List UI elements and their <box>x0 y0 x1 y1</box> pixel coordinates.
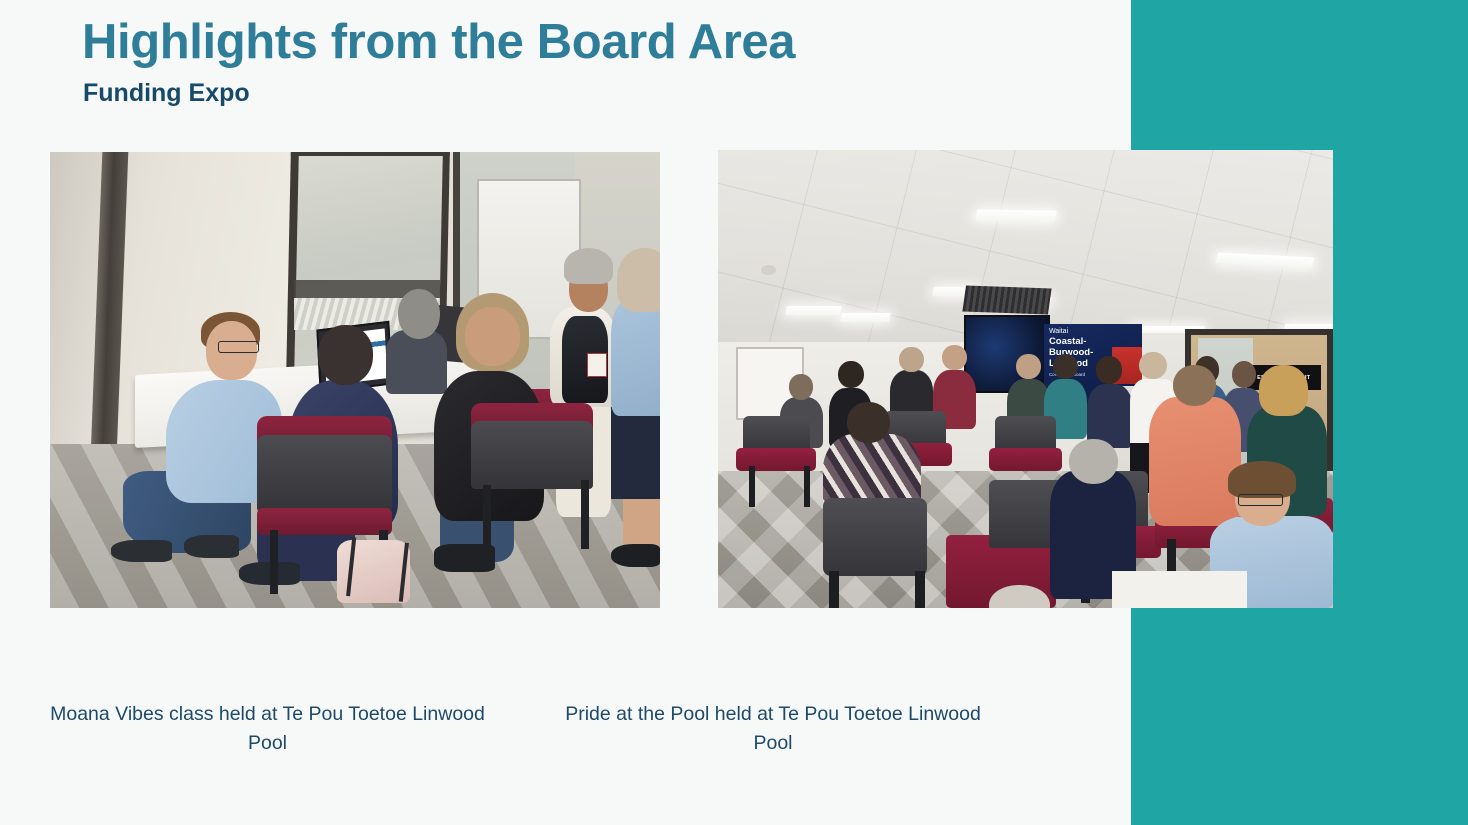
caption-photo-left: Moana Vibes class held at Te Pou Toetoe … <box>50 700 485 758</box>
photo2-desk <box>1112 571 1247 608</box>
photo1-person-head <box>617 248 660 312</box>
glasses-icon <box>1238 494 1283 507</box>
photo2-person-head <box>1016 354 1041 379</box>
photo1-coffee-cup <box>587 353 607 378</box>
photo2-person-head <box>1232 361 1257 388</box>
photo2-chair-leg <box>915 571 925 608</box>
photo1-chair-back <box>257 435 391 513</box>
photo2-chair-leg <box>804 466 810 507</box>
photo2-person-head <box>789 374 814 399</box>
photo1-chair-leg <box>581 480 589 548</box>
photo1-person-torso <box>611 298 660 417</box>
photo2-person-head <box>1053 354 1078 379</box>
page-title: Highlights from the Board Area <box>82 14 982 72</box>
photo1-person-shoe <box>611 544 660 567</box>
page-subtitle: Funding Expo <box>83 78 982 108</box>
photo1-person-head <box>318 325 373 384</box>
photo2-chair-leg <box>749 466 755 507</box>
photo2-person-head <box>1139 352 1167 379</box>
photo2-chair-leg <box>829 571 839 608</box>
slide-canvas: Highlights from the Board Area Funding E… <box>0 0 1468 825</box>
photo2-ceiling-light <box>785 306 842 315</box>
photo1-chair-leg <box>483 485 491 558</box>
photo2-person-head <box>1096 356 1122 383</box>
photo2-person-head <box>838 361 864 388</box>
photo2-ceiling-light <box>840 313 891 322</box>
banner-line-1: Waitai <box>1049 328 1137 336</box>
photo2-person-hair <box>1228 461 1296 498</box>
glasses-icon <box>218 341 260 353</box>
photo1-handbag-strap <box>346 537 409 602</box>
banner-line-2: Coastal- <box>1049 336 1137 347</box>
photo1-person-shoe <box>111 540 172 563</box>
photo2-person-head <box>1069 439 1118 485</box>
photo1-person-torso <box>386 330 447 394</box>
photo1-chair-leg <box>270 530 279 594</box>
photo1-person-head <box>465 307 520 366</box>
photo2-chair-back <box>823 498 928 576</box>
photo2-person-head <box>899 347 924 372</box>
photo2-chair-back <box>743 416 811 453</box>
photo2-person-head <box>1259 365 1308 415</box>
photo2-person-head <box>942 345 967 370</box>
title-block: Highlights from the Board Area Funding E… <box>82 14 982 108</box>
photo1-person-skirt <box>611 407 660 498</box>
photo2-person-torso <box>1149 397 1241 525</box>
photo2-chair-seat <box>989 448 1063 471</box>
photo1-chair-back <box>471 421 593 489</box>
photo2-ceiling-vent <box>962 286 1051 315</box>
caption-photo-right: Pride at the Pool held at Te Pou Toetoe … <box>560 700 986 758</box>
photo2-chair-back <box>995 416 1057 453</box>
photo1-person-shoe <box>184 535 239 558</box>
photo-pride-at-the-pool: Waitai Coastal- Burwood- Linwood Communi… <box>718 150 1333 608</box>
photo2-ceiling-light <box>975 209 1057 221</box>
photo-moana-vibes <box>50 152 660 608</box>
photo2-smoke-detector <box>761 265 776 275</box>
photo1-person-head <box>398 289 441 339</box>
photo2-person-head <box>847 402 890 443</box>
photo1-person-beanie <box>564 248 613 284</box>
photo2-person-head <box>1173 365 1216 406</box>
